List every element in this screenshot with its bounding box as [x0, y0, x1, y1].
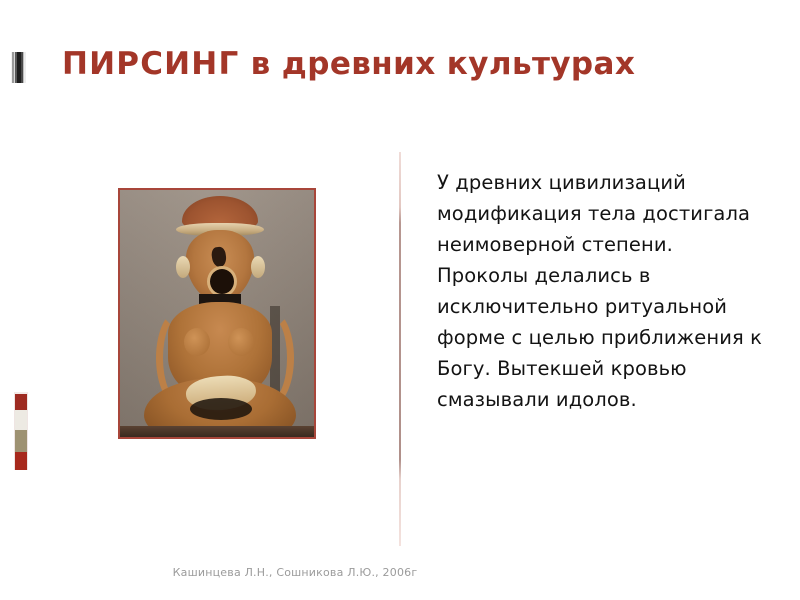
page-title-rest: в древних культурах	[239, 46, 635, 82]
ancient-figurine-photo	[118, 188, 316, 439]
striped-bar-icon	[11, 52, 26, 83]
left-edge-decoration	[14, 392, 28, 470]
figurine-lap-shadow	[190, 398, 252, 420]
photo-image-content	[120, 190, 314, 437]
figurine-pedestal	[120, 426, 314, 439]
figurine-mouth	[207, 266, 237, 297]
chip-khaki	[14, 430, 28, 452]
figurine-ear-ornament-left	[176, 256, 190, 278]
page-title-keyword: ПИРСИНГ	[62, 46, 239, 82]
body-paragraph-1: У древних цивилизаций модификация тела д…	[437, 167, 775, 260]
chip-dark-red-top	[14, 392, 28, 410]
chip-cream	[14, 410, 28, 430]
vertical-divider	[399, 152, 401, 546]
chip-dark-red-bottom	[14, 452, 28, 470]
body-paragraph-2: Проколы делались в исключительно ритуаль…	[437, 260, 775, 415]
body-text-block: У древних цивилизаций модификация тела д…	[437, 167, 775, 415]
footer-credit: Кашинцева Л.Н., Сошникова Л.Ю., 2006г	[0, 566, 800, 579]
page-title: ПИРСИНГ в древних культурах	[62, 44, 762, 84]
figurine-ear-ornament-right	[251, 256, 265, 278]
slide-canvas: ПИРСИНГ в древних культурах	[0, 0, 800, 600]
